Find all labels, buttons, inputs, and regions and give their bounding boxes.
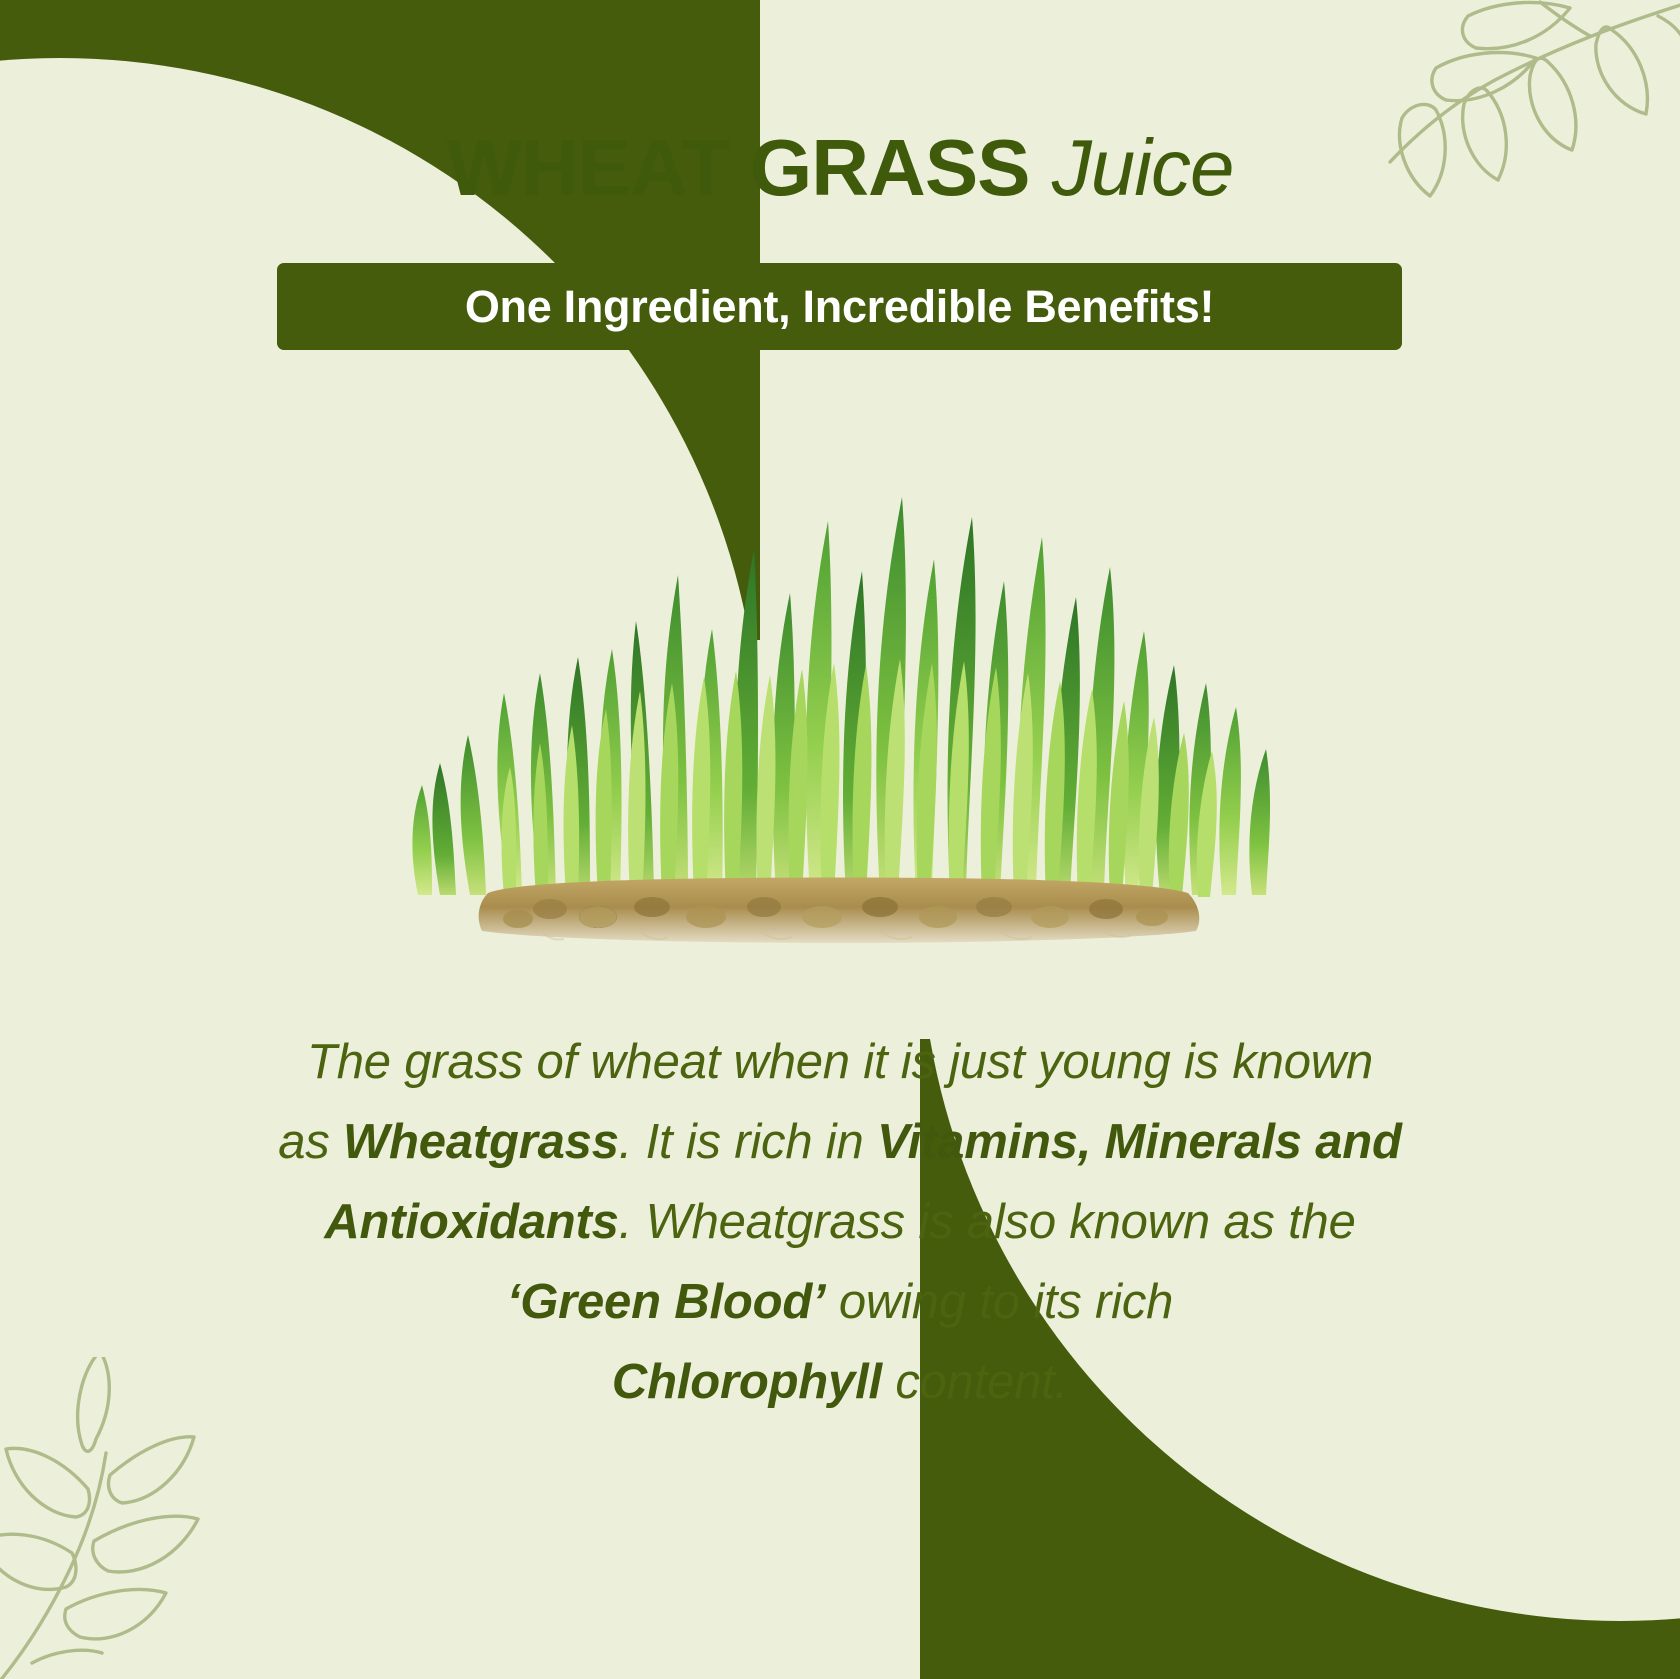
body-line-1: The grass of wheat when it is just young… [140, 1022, 1540, 1102]
body-emphasis-green-blood: ‘Green Blood’ [507, 1275, 826, 1329]
page-title: WHEAT GRASS Juice [0, 128, 1680, 208]
subtitle-banner: One Ingredient, Incredible Benefits! [277, 263, 1402, 350]
body-paragraph: The grass of wheat when it is just young… [140, 1022, 1540, 1422]
body-line-2: as Wheatgrass. It is rich in Vitamins, M… [140, 1102, 1540, 1182]
body-line-4-text-b: owing to its rich [825, 1275, 1173, 1329]
header: WHEAT GRASS Juice [0, 128, 1680, 208]
body-emphasis-vitamins: Vitamins, Minerals and [877, 1115, 1402, 1169]
body-emphasis-wheatgrass: Wheatgrass [343, 1115, 619, 1169]
body-line-5-text-b: content. [882, 1355, 1068, 1409]
body-line-3-text-b: . Wheatgrass is also known as the [619, 1195, 1356, 1249]
body-line-4: ‘Green Blood’ owing to its rich [140, 1262, 1540, 1342]
subtitle-text: One Ingredient, Incredible Benefits! [465, 281, 1214, 333]
wheatgrass-image [340, 425, 1340, 965]
body-line-2-text-a: as [278, 1115, 343, 1169]
poster-canvas: WHEAT GRASS Juice One Ingredient, Incred… [0, 0, 1680, 1679]
body-emphasis-chlorophyll: Chlorophyll [612, 1355, 882, 1409]
page-title-bold: WHEAT GRASS [446, 123, 1029, 212]
body-emphasis-antioxidants: Antioxidants [324, 1195, 618, 1249]
body-line-3: Antioxidants. Wheatgrass is also known a… [140, 1182, 1540, 1262]
body-line-5: Chlorophyll content. [140, 1342, 1540, 1422]
page-title-italic: Juice [1052, 123, 1234, 212]
body-line-2-text-c: . It is rich in [619, 1115, 877, 1169]
